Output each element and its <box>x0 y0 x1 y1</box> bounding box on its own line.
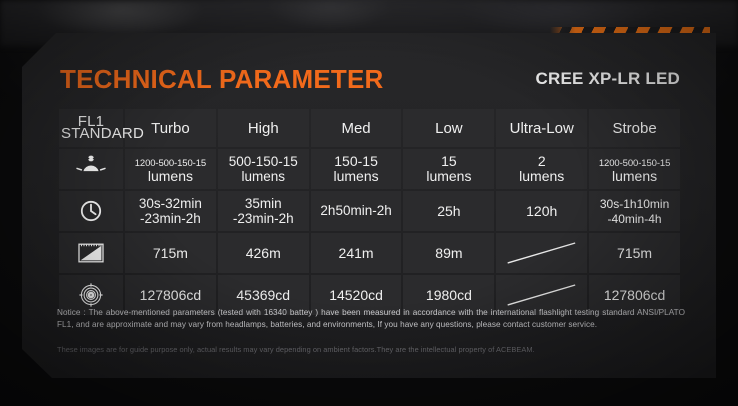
cell-line-1: 127806cd <box>140 287 202 303</box>
cell-ultra-low-beam-distance <box>496 233 587 273</box>
cell-line-1: 715m <box>153 245 188 261</box>
cell-line-1: 14520cd <box>329 287 383 303</box>
cell-med-beam-distance: 241m <box>311 233 402 273</box>
cell-high-runtime: 35min-23min-2h <box>218 191 309 231</box>
cell-line-1: 715m <box>617 245 652 261</box>
cell-line-1: 2 <box>538 153 546 169</box>
notice-text: Notice : The above-mentioned parameters … <box>57 307 685 332</box>
technical-parameter-table: FL1 STANDARD Turbo High Med Low Ultra-Lo… <box>57 107 682 317</box>
row-icon-cell-beam-distance <box>59 233 123 273</box>
cell-line-1: 35min <box>245 196 282 211</box>
column-header-high: High <box>218 109 309 147</box>
column-header-low: Low <box>403 109 494 147</box>
column-header-fl1-standard: FL1 STANDARD <box>59 109 123 147</box>
technical-parameter-screenshot: TECHNICAL PARAMETER CREE XP-LR LED FL1 S… <box>0 0 738 406</box>
cell-turbo-lumens: 1200-500-150-15lumens <box>125 149 216 189</box>
cell-line-1: 89m <box>435 245 462 261</box>
cell-strobe-lumens: 1200-500-150-15lumens <box>589 149 680 189</box>
cell-line-2: -23min-2h <box>233 211 294 226</box>
row-icon-cell-lumens <box>59 149 123 189</box>
fl1-line2: STANDARD <box>61 125 144 142</box>
beam-distance-icon <box>74 238 108 268</box>
column-header-med: Med <box>311 109 402 147</box>
cell-turbo-beam-distance: 715m <box>125 233 216 273</box>
cell-line-2: lumens <box>148 168 193 184</box>
cell-low-lumens: 15lumens <box>403 149 494 189</box>
cell-med-lumens: 150-15lumens <box>311 149 402 189</box>
cell-line-1: 426m <box>246 245 281 261</box>
cell-line-1: 30s-32min <box>139 196 202 211</box>
cell-line-2: -40min-4h <box>608 212 662 226</box>
cell-line-1: 30s-1h10min <box>600 197 669 211</box>
cell-line-1: 241m <box>339 245 374 261</box>
table-row: 30s-32min-23min-2h35min-23min-2h2h50min-… <box>59 191 680 231</box>
cell-high-beam-distance: 426m <box>218 233 309 273</box>
panel-header: TECHNICAL PARAMETER CREE XP-LR LED <box>60 62 680 96</box>
cell-line-1: 45369cd <box>236 287 290 303</box>
cell-line-1: 150-15 <box>334 153 378 169</box>
table-body: 1200-500-150-15lumens500-150-15lumens150… <box>59 149 680 315</box>
cell-line-1: 25h <box>437 203 460 219</box>
table-row: 715m426m241m89m715m <box>59 233 680 273</box>
credit-text: These images are for guide purpose only,… <box>57 344 685 355</box>
cell-line-2: lumens <box>241 169 285 184</box>
row-icon-cell-runtime <box>59 191 123 231</box>
cell-high-lumens: 500-150-15lumens <box>218 149 309 189</box>
led-model-label: CREE XP-LR LED <box>536 69 680 89</box>
cell-line-1: 127806cd <box>604 287 666 303</box>
not-applicable-slash-icon <box>498 280 585 310</box>
cell-low-beam-distance: 89m <box>403 233 494 273</box>
column-header-strobe: Strobe <box>589 109 680 147</box>
not-applicable-slash-icon <box>498 238 585 268</box>
clock-icon <box>74 196 108 226</box>
cell-turbo-runtime: 30s-32min-23min-2h <box>125 191 216 231</box>
cell-line-1: 1980cd <box>426 287 472 303</box>
column-header-ultra-low: Ultra-Low <box>496 109 587 147</box>
sunburst-icon <box>74 154 108 184</box>
cell-strobe-runtime: 30s-1h10min-40min-4h <box>589 191 680 231</box>
cell-line-2: lumens <box>519 168 564 184</box>
cell-ultra-low-lumens: 2lumens <box>496 149 587 189</box>
page-title: TECHNICAL PARAMETER <box>60 64 384 94</box>
cell-strobe-beam-distance: 715m <box>589 233 680 273</box>
cell-line-2: lumens <box>334 168 379 184</box>
table-header-row: FL1 STANDARD Turbo High Med Low Ultra-Lo… <box>59 109 680 147</box>
cell-line-2: lumens <box>612 168 657 184</box>
cell-ultra-low-runtime: 120h <box>496 191 587 231</box>
cell-line-1: 120h <box>526 203 557 219</box>
cell-line-1: 500-150-15 <box>229 154 298 169</box>
cell-med-runtime: 2h50min-2h <box>311 191 402 231</box>
cell-line-2: lumens <box>426 168 471 184</box>
table-row: 1200-500-150-15lumens500-150-15lumens150… <box>59 149 680 189</box>
cell-line-1: 2h50min-2h <box>320 203 391 218</box>
cell-line-1: 15 <box>441 153 457 169</box>
cell-line-2: -23min-2h <box>140 211 201 226</box>
cell-low-runtime: 25h <box>403 191 494 231</box>
peak-beam-icon <box>74 280 108 310</box>
